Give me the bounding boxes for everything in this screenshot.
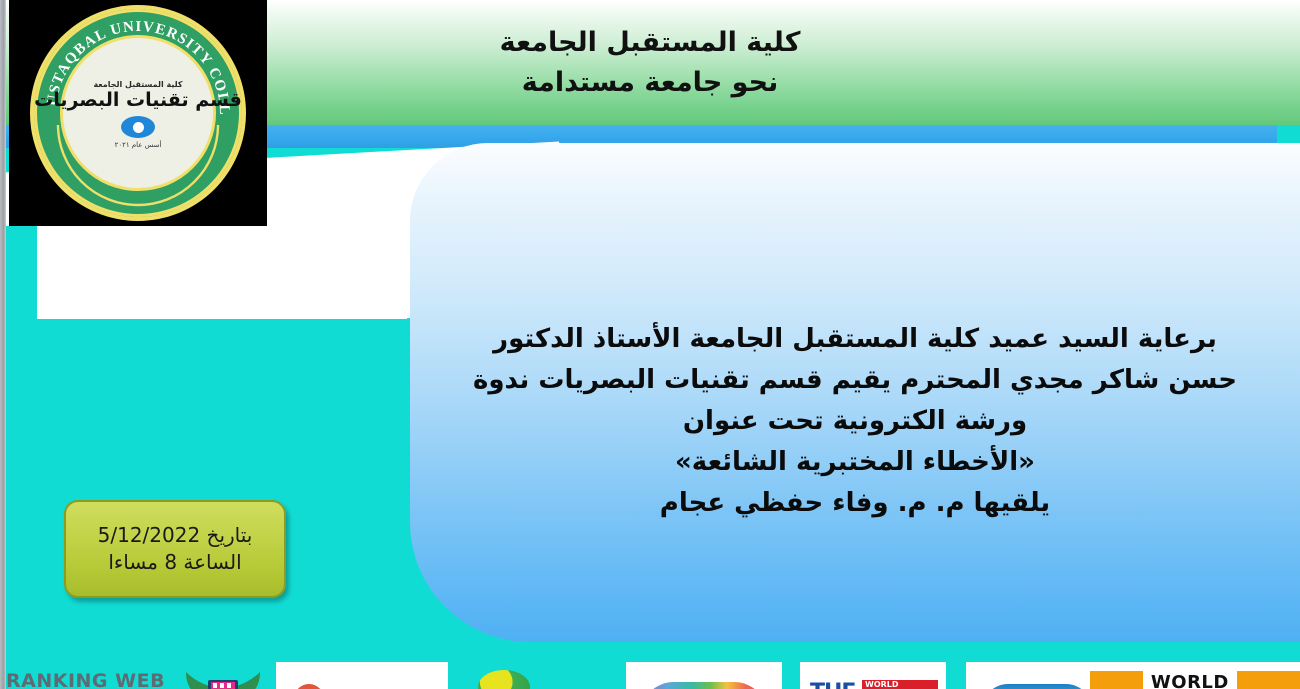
announcement-text-group: برعاية السيد عميد كلية المستقبل الجامعة …	[410, 143, 1300, 642]
the-world-label: WORLD	[865, 680, 899, 689]
announcement-line-2: حسن شاكر مجدي المحترم يقيم قسم تقنيات ال…	[473, 360, 1237, 401]
seal-title: قسم تقنيات البصريات	[34, 91, 242, 110]
university-crest-icon	[180, 666, 266, 689]
rainbow-swirl-icon	[640, 682, 768, 689]
seal-inner-disc: كلية المستقبل الجامعة قسم تقنيات البصريا…	[63, 38, 213, 188]
qs-orange-block-right	[1237, 671, 1300, 689]
announcement-topic-title: «الأخطاء المختبرية الشائعة»	[675, 442, 1035, 483]
footer-logo-strip: RANKING WEB SCIMAGO THE WORLD	[0, 662, 1300, 689]
college-seal-icon: AL-MUSTAQBAL UNIVERSITY COLLEGE كلية الم…	[34, 9, 242, 217]
college-logo-plate: AL-MUSTAQBAL UNIVERSITY COLLEGE كلية الم…	[9, 0, 267, 226]
scimago-logo-tile: SCIMAGO	[276, 662, 448, 689]
ranking-web-logo: RANKING WEB	[6, 670, 165, 689]
the-world-badge: WORLD	[862, 680, 938, 689]
announcement-line-1: برعاية السيد عميد كلية المستقبل الجامعة …	[493, 319, 1217, 360]
date-time-badge: بتاريخ 5/12/2022 الساعة 8 مساءا	[64, 500, 286, 598]
badge-date-line: بتاريخ 5/12/2022	[98, 522, 253, 549]
globe-icon	[478, 670, 530, 689]
white-content-panel	[37, 226, 407, 319]
blue-wave-icon	[982, 684, 1092, 689]
eye-icon	[121, 116, 155, 138]
the-rankings-tile: THE WORLD	[800, 662, 946, 689]
qs-world-label: WORLD	[1151, 672, 1229, 689]
badge-time-line: الساعة 8 مساءا	[108, 549, 241, 576]
presentation-slide: كلية المستقبل الجامعة نحو جامعة مستدامة …	[0, 0, 1300, 689]
qs-orange-block-left	[1090, 671, 1143, 689]
the-logo-text: THE	[810, 680, 855, 689]
scimago-dot-icon	[294, 684, 324, 689]
announcement-line-3: ورشة الكترونية تحت عنوان	[683, 401, 1027, 442]
uni-rank-tile	[626, 662, 782, 689]
announcement-speaker: يلقيها م. م. وفاء حفظي عجام	[660, 483, 1050, 524]
seal-year: أسس عام ٢٠٢١	[115, 141, 162, 149]
left-edge-gutter	[0, 0, 6, 689]
qs-world-tile: WORLD	[1084, 662, 1300, 689]
seal-subtitle: كلية المستقبل الجامعة	[93, 80, 182, 89]
header-title-line-2: نحو جامعة مستدامة	[522, 63, 778, 102]
eye-pupil-icon	[133, 122, 144, 133]
header-title-line-1: كلية المستقبل الجامعة	[500, 23, 801, 62]
